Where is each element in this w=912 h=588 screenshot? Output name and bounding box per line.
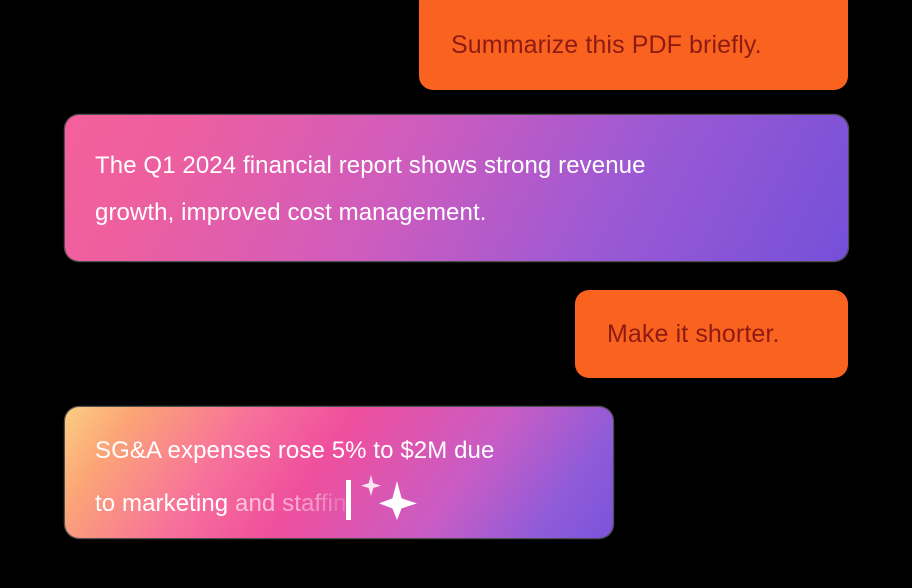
message-bubble-user-summarize[interactable]: Summarize this PDF briefly. <box>419 0 848 90</box>
sparkle-small-icon <box>361 475 381 496</box>
message-text: Make it shorter. <box>607 319 780 349</box>
streamed-fading-text: and staffin <box>235 490 346 517</box>
streamed-fade-chunk: n <box>333 490 346 517</box>
message-text: Summarize this PDF briefly. <box>451 30 762 60</box>
message-bubble-user-shorter[interactable]: Make it shorter. <box>575 290 848 378</box>
sparkle-large-icon <box>379 481 417 520</box>
streamed-fade-chunk: and <box>235 490 282 517</box>
message-text-line-2: to marketing and staffin <box>95 473 583 536</box>
streamed-fade-chunk: st <box>282 490 301 517</box>
streamed-fade-chunk: af <box>301 490 321 517</box>
message-text-line-1: SG&A expenses rose 5% to $2M due <box>95 429 583 473</box>
streamed-committed-text: to marketing <box>95 490 235 517</box>
chat-thread: Summarize this PDF briefly. The Q1 2024 … <box>0 0 912 588</box>
message-text-line-1: The Q1 2024 financial report shows stron… <box>95 142 818 189</box>
message-text-line-2: growth, improved cost management. <box>95 189 818 236</box>
message-bubble-assistant-report[interactable]: The Q1 2024 financial report shows stron… <box>65 115 848 261</box>
sparkles-group <box>357 473 419 536</box>
text-caret <box>346 480 351 520</box>
streamed-fade-chunk: fi <box>321 490 333 517</box>
message-bubble-assistant-streaming[interactable]: SG&A expenses rose 5% to $2M due to mark… <box>65 407 613 538</box>
